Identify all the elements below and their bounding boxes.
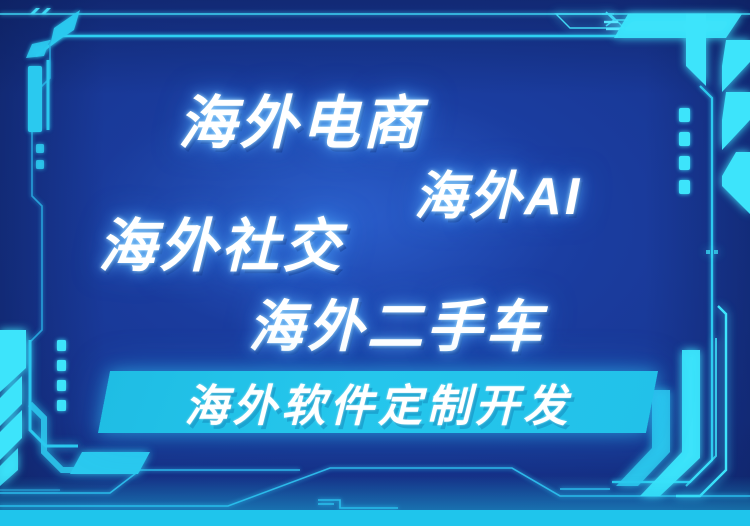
- bottom-strip-glow: [0, 476, 750, 510]
- banner-label: 海外软件定制开发: [184, 370, 571, 434]
- headline-stack: 海外电商 海外AI 海外社交 海外二手车: [0, 0, 750, 526]
- headline-ai: 海外AI: [414, 154, 582, 229]
- headline-social: 海外社交: [98, 199, 344, 283]
- bottom-accent-strip: [0, 510, 750, 526]
- headline-ecommerce: 海外电商: [178, 76, 424, 160]
- headline-used-car: 海外二手车: [248, 282, 545, 363]
- promo-poster: 海外电商 海外AI 海外社交 海外二手车 海外软件定制开发: [0, 0, 750, 526]
- software-banner: 海外软件定制开发: [104, 371, 652, 433]
